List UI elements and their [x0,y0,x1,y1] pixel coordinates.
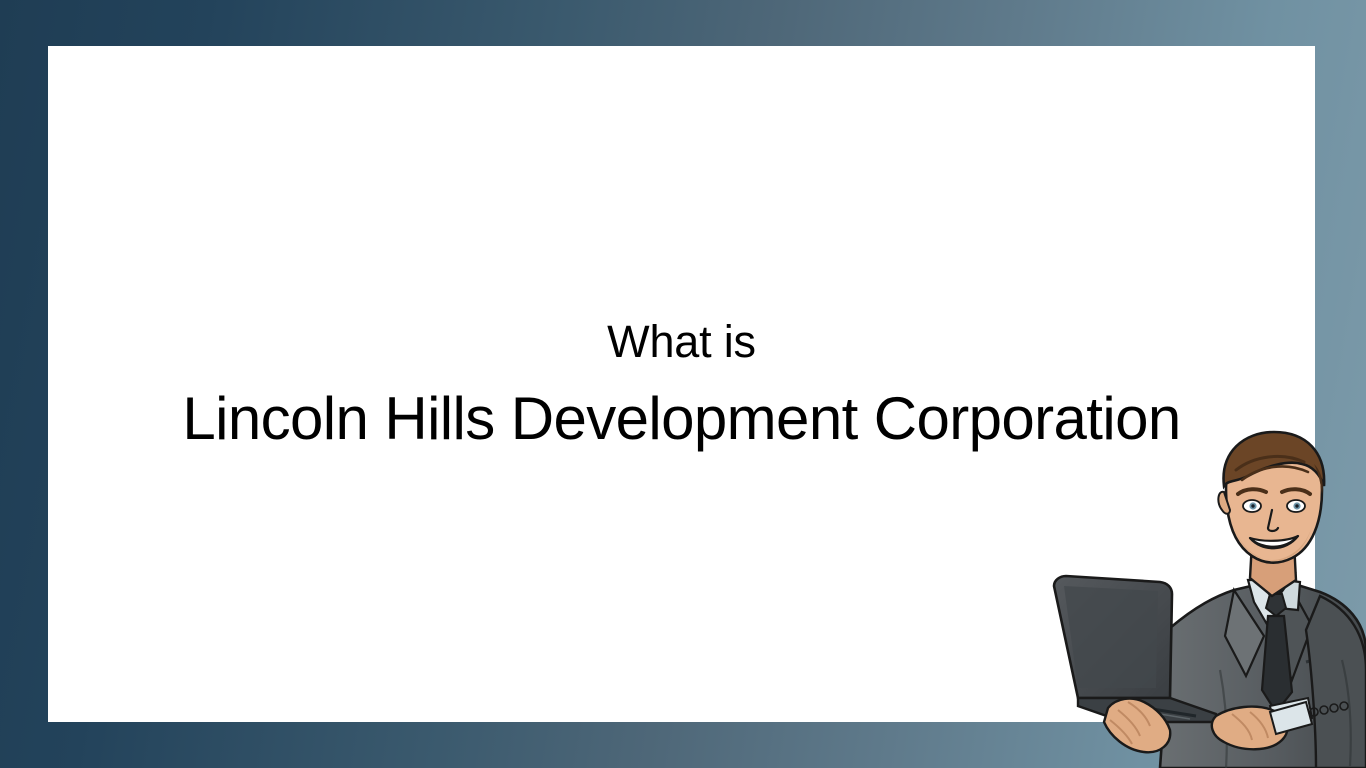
slide-kicker-text: What is [48,318,1315,366]
slide-headline-title: Lincoln Hills Development Corporation [48,386,1315,452]
sleeve-buttons [1310,702,1348,716]
presentation-slide: What is Lincoln Hills Development Corpor… [0,0,1366,768]
slide-content-panel: What is Lincoln Hills Development Corpor… [48,46,1315,722]
